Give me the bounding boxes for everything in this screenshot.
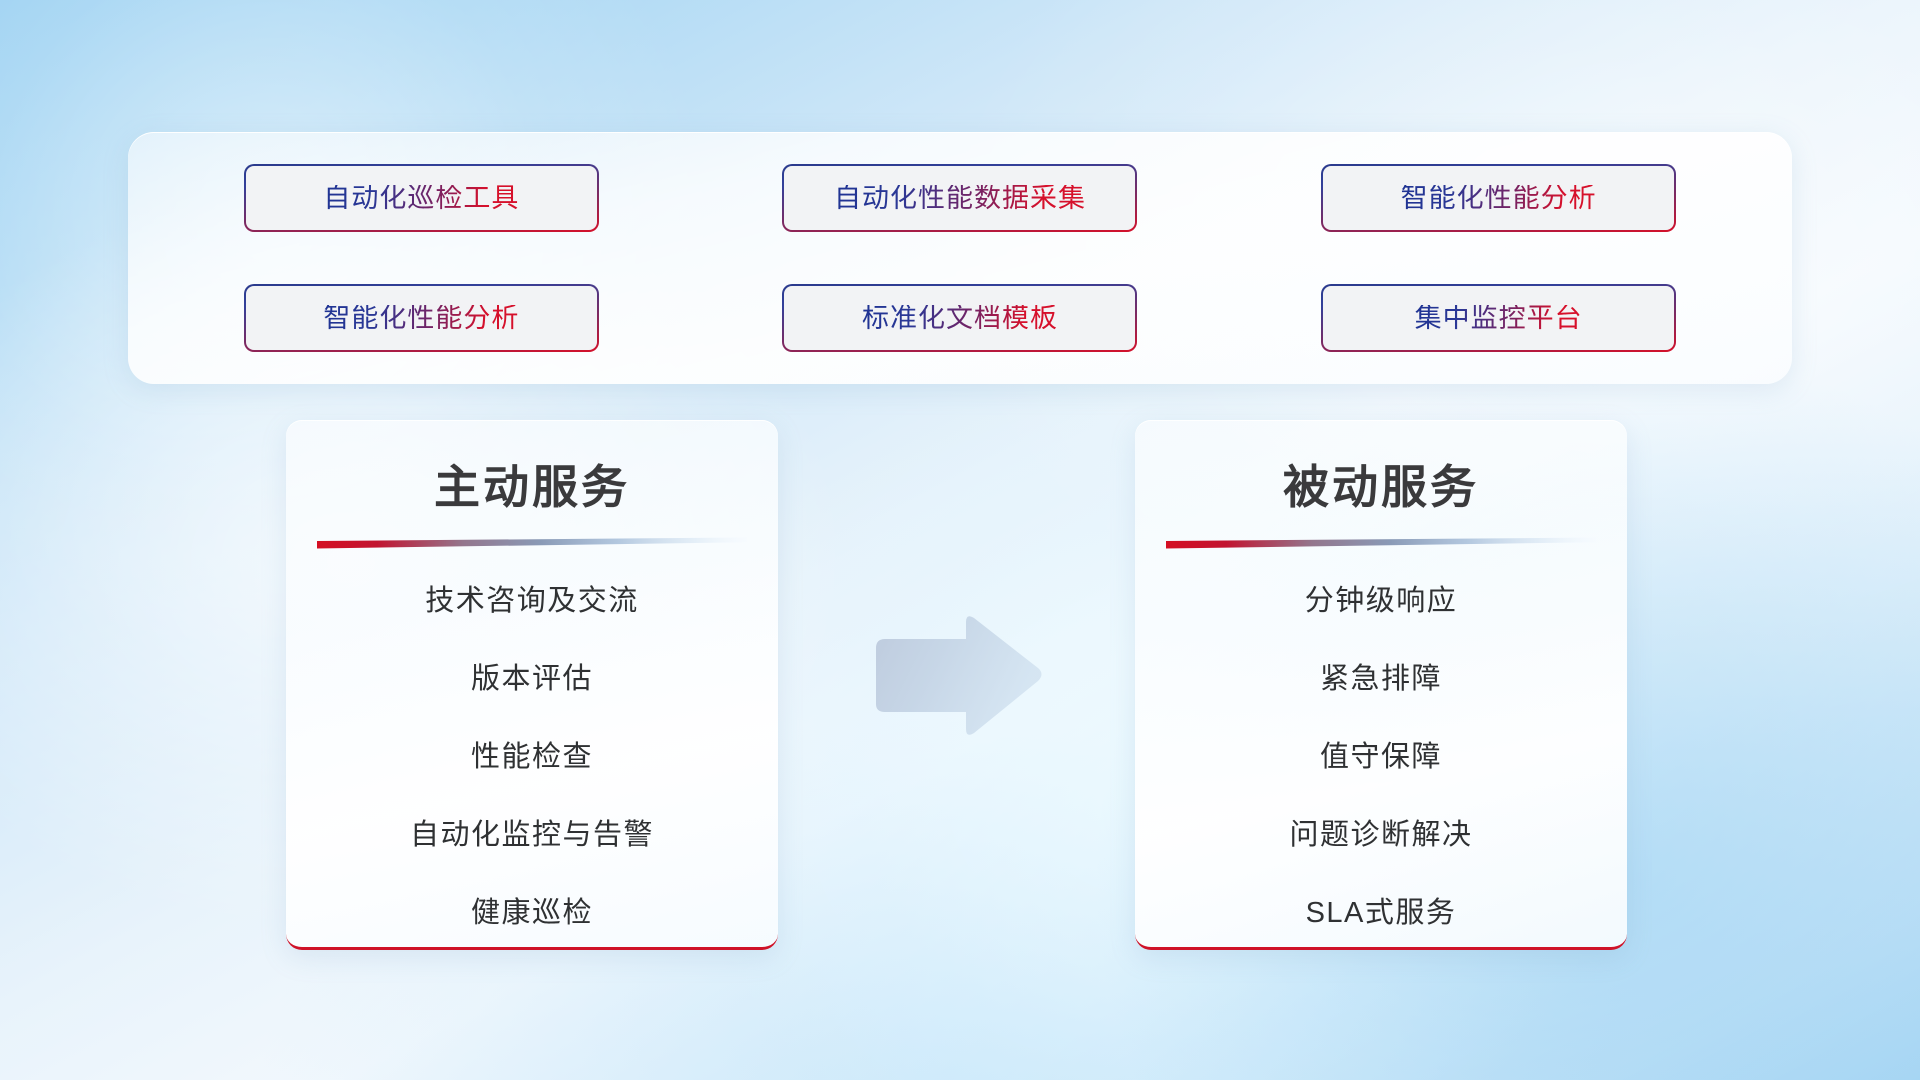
service-card-title: 主动服务 xyxy=(316,462,748,513)
capability-tag-label: 智能化性能分析 xyxy=(323,305,519,332)
capability-tag-intelligent-performance-analysis-1[interactable]: 智能化性能分析 xyxy=(1321,164,1676,232)
arrow-right-icon xyxy=(870,612,1045,742)
service-list-item: 值守保障 xyxy=(1165,743,1597,772)
capability-tag-standardized-document-template[interactable]: 标准化文档模板 xyxy=(782,284,1137,352)
service-item-list: 技术咨询及交流 版本评估 性能检查 自动化监控与告警 健康巡检 xyxy=(316,587,748,928)
service-list-item: 问题诊断解决 xyxy=(1165,821,1597,850)
card-divider-icon xyxy=(1166,537,1596,551)
capability-tag-intelligent-performance-analysis-2[interactable]: 智能化性能分析 xyxy=(244,284,599,352)
service-list-item: SLA式服务 xyxy=(1165,899,1597,928)
capability-tag-label: 智能化性能分析 xyxy=(1401,185,1597,212)
service-list-item: 自动化监控与告警 xyxy=(316,821,748,850)
capability-tag-label: 自动化性能数据采集 xyxy=(834,185,1086,212)
service-list-item: 健康巡检 xyxy=(316,899,748,928)
card-divider-icon xyxy=(317,537,747,551)
service-item-list: 分钟级响应 紧急排障 值守保障 问题诊断解决 SLA式服务 xyxy=(1165,587,1597,928)
capability-tag-automated-inspection-tool[interactable]: 自动化巡检工具 xyxy=(244,164,599,232)
service-list-item: 版本评估 xyxy=(316,665,748,694)
service-list-item: 分钟级响应 xyxy=(1165,587,1597,616)
capability-tag-centralized-monitoring-platform[interactable]: 集中监控平台 xyxy=(1321,284,1676,352)
service-card-title: 被动服务 xyxy=(1165,462,1597,513)
service-card-reactive[interactable]: 被动服务 分钟级响应 紧急排障 xyxy=(1135,420,1627,950)
capability-tag-label: 标准化文档模板 xyxy=(862,305,1058,332)
service-list-item: 技术咨询及交流 xyxy=(316,587,748,616)
slide-canvas: 自动化巡检工具 自动化性能数据采集 智能化性能分析 智能化性能分析 标准化文档模… xyxy=(0,0,1920,1080)
service-list-item: 紧急排障 xyxy=(1165,665,1597,694)
service-card-proactive[interactable]: 主动服务 技术咨询及交流 版本评估 xyxy=(286,420,778,950)
capability-tag-label: 集中监控平台 xyxy=(1415,305,1583,332)
capability-tag-automated-performance-data-collection[interactable]: 自动化性能数据采集 xyxy=(782,164,1137,232)
service-list-item: 性能检查 xyxy=(316,743,748,772)
capability-panel: 自动化巡检工具 自动化性能数据采集 智能化性能分析 智能化性能分析 标准化文档模… xyxy=(128,132,1792,384)
capability-tag-label: 自动化巡检工具 xyxy=(323,185,519,212)
